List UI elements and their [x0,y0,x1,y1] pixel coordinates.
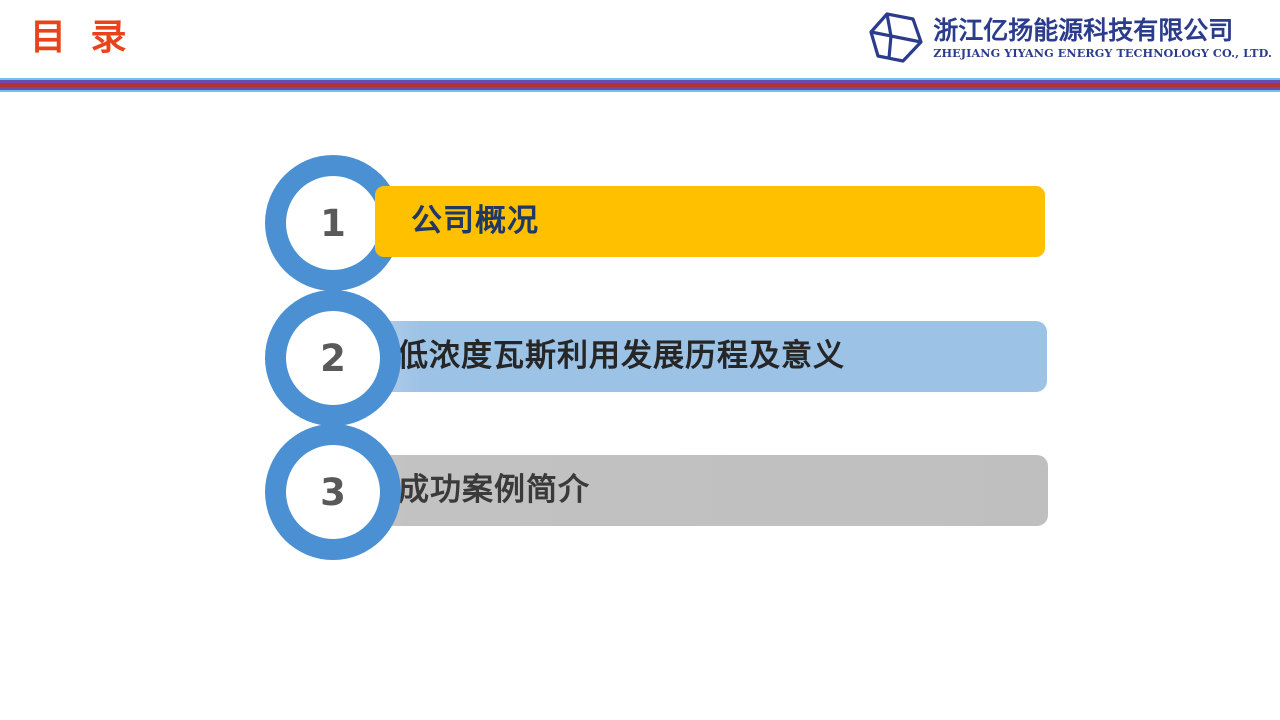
hexagon-crystal-logo-icon [867,10,925,66]
brand-name-cn: 浙江亿扬能源科技有限公司 [933,17,1272,45]
brand-logo: 浙江亿扬能源科技有限公司 ZHEJIANG YIYANG ENERGY TECH… [867,8,1272,68]
toc-bar-1[interactable]: 公司概况 [375,186,1045,257]
brand-name-en: ZHEJIANG YIYANG ENERGY TECHNOLOGY CO., L… [933,46,1272,60]
toc-bar-3[interactable]: 成功案例简介 [368,455,1048,526]
toc-bar-2[interactable]: 低浓度瓦斯利用发展历程及意义 [368,321,1047,392]
toc-item-1[interactable]: 公司概况 1 [265,155,1055,291]
toc-label-2: 低浓度瓦斯利用发展历程及意义 [368,341,845,372]
toc-label-1: 公司概况 [375,206,539,237]
toc-ring-inner-1: 1 [286,176,380,270]
page-title: 目 录 [30,14,133,63]
toc-list: 公司概况 1 低浓度瓦斯利用发展历程及意义 2 成功案例简介 3 [0,92,1280,720]
toc-ring-2: 2 [265,290,401,426]
brand-text: 浙江亿扬能源科技有限公司 ZHEJIANG YIYANG ENERGY TECH… [933,17,1272,60]
slide-header: 目 录 浙江亿扬能源科技有限公司 ZHEJIANG YIYANG ENERGY … [0,0,1280,78]
toc-ring-3: 3 [265,424,401,560]
toc-label-3: 成功案例简介 [368,475,590,506]
header-divider-bar [0,78,1280,92]
toc-item-2[interactable]: 低浓度瓦斯利用发展历程及意义 2 [265,290,1055,426]
toc-number-3: 3 [320,474,346,511]
toc-ring-inner-3: 3 [286,445,380,539]
toc-number-2: 2 [320,340,346,377]
toc-number-1: 1 [320,205,346,242]
toc-item-3[interactable]: 成功案例简介 3 [265,424,1055,560]
toc-ring-inner-2: 2 [286,311,380,405]
